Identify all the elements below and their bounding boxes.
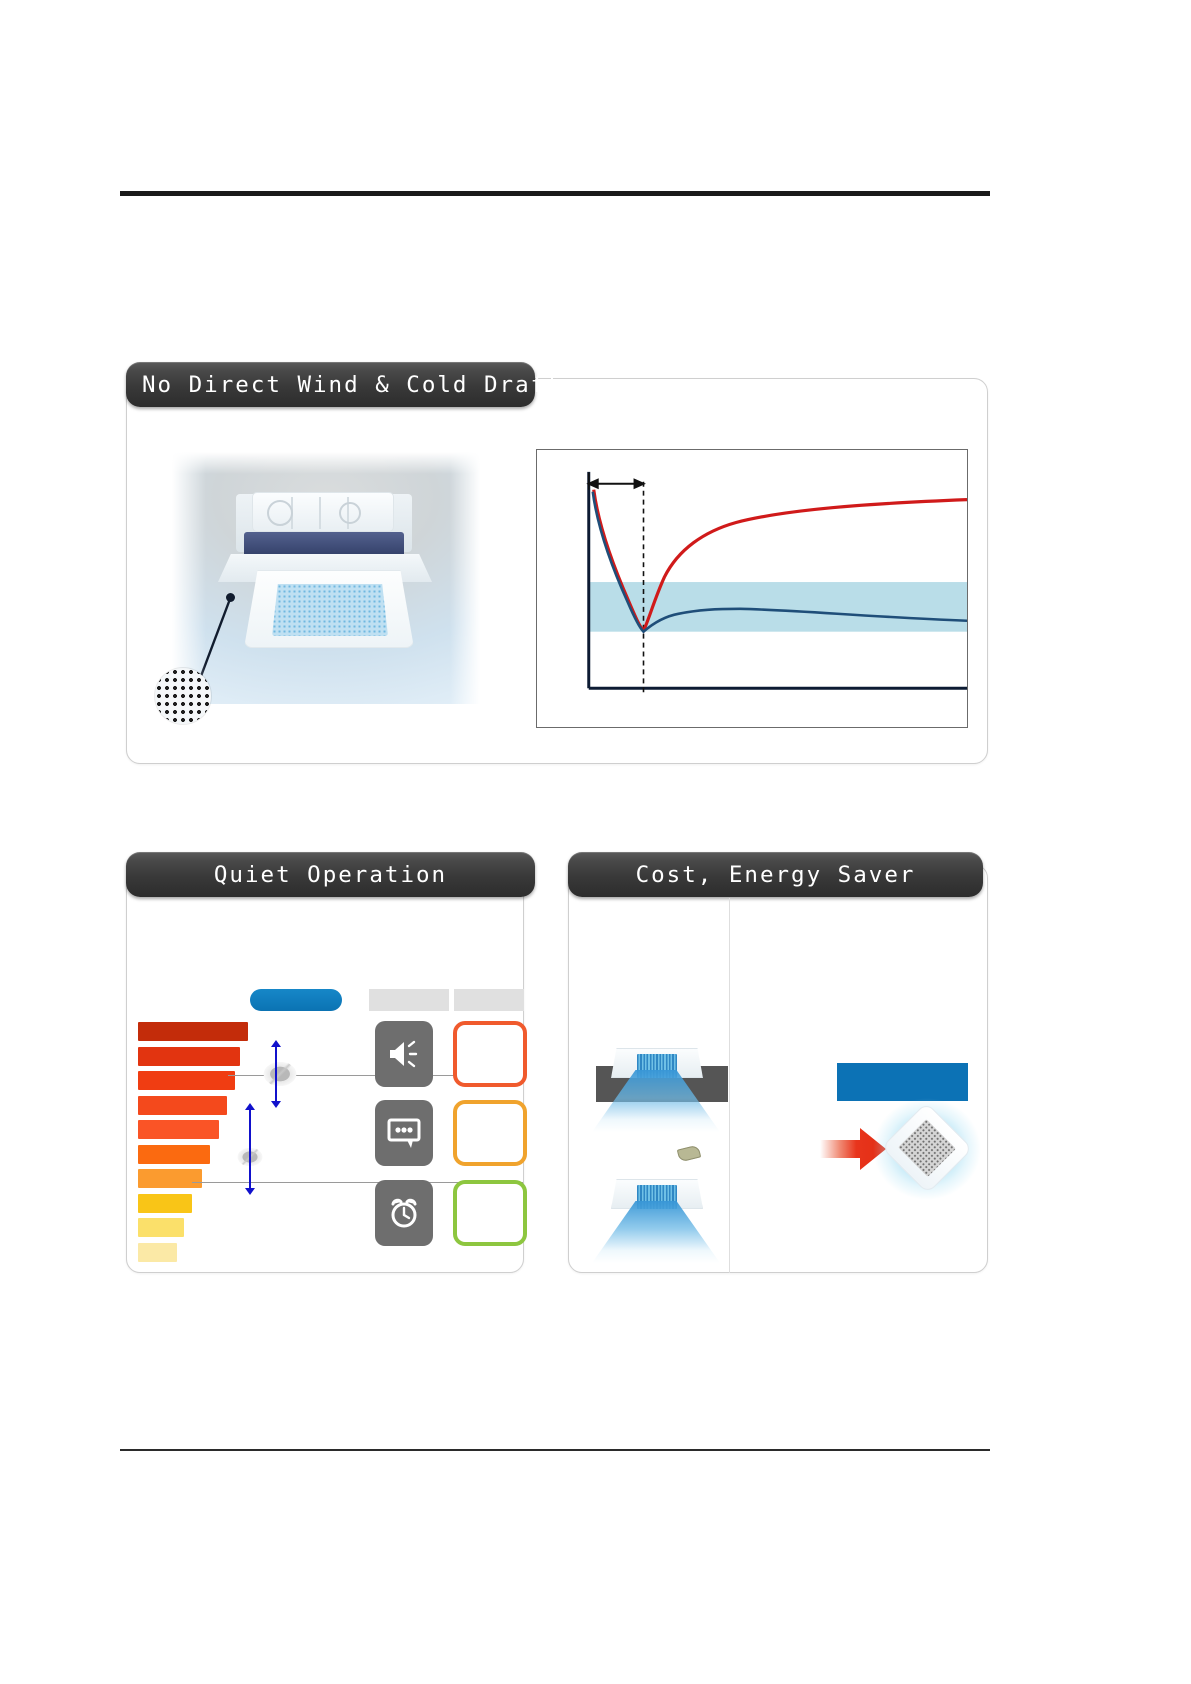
panel-title-text: Cost, Energy Saver (636, 862, 916, 888)
table-row (138, 1071, 235, 1090)
panel-title-cost-energy-saver: Cost, Energy Saver (568, 852, 983, 897)
panel-title-quiet-operation: Quiet Operation (126, 852, 535, 897)
table-row (138, 1218, 184, 1237)
speech-bubble-icon[interactable] (375, 1100, 433, 1166)
table-row (138, 1047, 240, 1066)
footer-rule (120, 1449, 990, 1451)
speaker-volume-glyph (387, 1039, 421, 1069)
column-header-tag-1 (369, 989, 449, 1011)
quiet-mode-tag (250, 989, 342, 1011)
header-rule (120, 191, 990, 196)
alarm-clock-icon[interactable] (375, 1180, 433, 1246)
speech-bubble-glyph (386, 1117, 422, 1149)
table-row (138, 1145, 210, 1164)
cassette-diffused-airflow-icon (884, 1108, 970, 1190)
table-row (138, 1096, 227, 1115)
status-box-1[interactable] (453, 1021, 527, 1087)
perforated-panel-detail-icon (155, 668, 211, 724)
status-box-2[interactable] (453, 1100, 527, 1166)
table-row (138, 1120, 219, 1139)
alarm-clock-glyph (386, 1196, 422, 1230)
table-row (138, 1194, 192, 1213)
panel-title-text: Quiet Operation (214, 862, 447, 888)
speaker-volume-icon[interactable] (375, 1021, 433, 1087)
temperature-response-chart (536, 449, 968, 728)
sound-level-bar-chart (138, 1022, 248, 1267)
panel-inner-divider (729, 898, 730, 1273)
callout-leader-line-icon (172, 452, 480, 704)
up-down-arrow-icon (271, 1040, 281, 1108)
cassette-photo (172, 452, 480, 704)
table-row (138, 1169, 202, 1188)
panel-title-text: No Direct Wind & Cold Draft (142, 372, 562, 398)
up-down-arrow-icon (245, 1103, 255, 1195)
table-row (138, 1243, 177, 1262)
table-row (138, 1022, 248, 1041)
chart-svg (537, 450, 967, 727)
column-header-tag-2 (454, 989, 524, 1011)
status-box-3[interactable] (453, 1180, 527, 1246)
panel-title-no-direct-wind: No Direct Wind & Cold Draft (126, 362, 535, 407)
